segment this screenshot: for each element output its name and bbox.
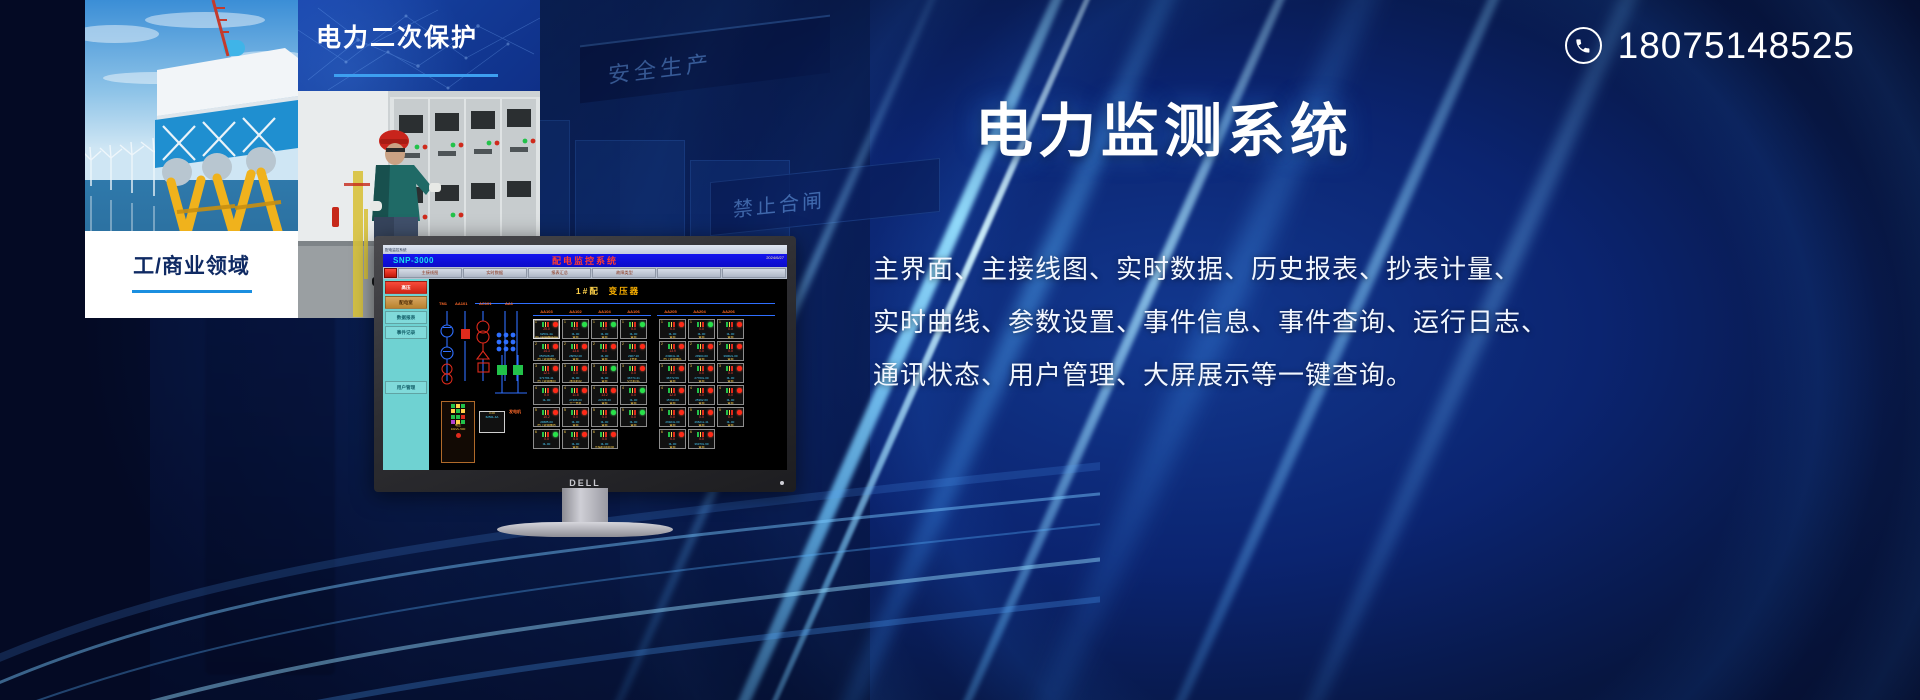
meter-primary-value: 0.0 xyxy=(594,350,615,353)
meter-primary-value: 14.3 xyxy=(536,350,557,353)
meter-index: 3 xyxy=(661,365,663,368)
meter-index: 4 xyxy=(719,387,721,390)
diagram-title-main: 变压器 xyxy=(609,286,641,296)
meter-primary-value: 0.0 xyxy=(594,416,615,419)
meter-status-led-icon xyxy=(611,388,616,393)
meter-cell[interactable]: 60.00L.00备用 xyxy=(562,429,589,449)
meter-index: 4 xyxy=(622,387,624,390)
phone-glyph xyxy=(1573,36,1593,56)
meter-status-led-icon xyxy=(640,344,645,349)
meter-label: 备用 xyxy=(690,336,713,339)
meter-status-led-icon xyxy=(640,388,645,393)
meter-cell[interactable]: 60.00L.00备用 xyxy=(659,429,686,449)
meter-index: 5 xyxy=(719,409,721,412)
meter-primary-value: 0.0 xyxy=(662,416,683,419)
meter-primary-value: 0.0 xyxy=(594,328,615,331)
meter-cell[interactable]: 412.015790.00备用 xyxy=(659,385,686,405)
app-menubar[interactable]: 主接线图 实时数据 报表汇总 故障类型 xyxy=(383,267,787,279)
meter-primary-value: 0.0 xyxy=(594,438,615,441)
card-header-underline xyxy=(334,74,498,77)
meter-secondary-value: 0L.00 xyxy=(535,399,558,402)
meter-label: 备用 xyxy=(719,336,742,339)
meter-label: 鼓风机02 xyxy=(564,380,587,383)
meter-index: 4 xyxy=(535,387,537,390)
meter-label: 备用 xyxy=(661,424,684,427)
meter-cell[interactable]: 312.1371784.41出口变频器03 xyxy=(533,363,560,383)
meter-label: 出口变频器03 xyxy=(535,380,558,383)
app-banner: SNP-3000 配电监控系统 2024/6/27 xyxy=(383,254,787,267)
meter-grid-columns: 120.06250L.4A出口变频器01/0A214.305P028.28出口变… xyxy=(533,319,785,449)
meter-label: 备用 xyxy=(719,424,742,427)
meter-cell[interactable]: 10.00L.00备用 xyxy=(717,319,744,339)
meter-index: 6 xyxy=(564,431,566,434)
meter-index: 1 xyxy=(535,321,537,324)
meter-secondary-value: 0L.00 xyxy=(535,443,558,446)
meter-cell[interactable]: 50.026924L.00备用 xyxy=(659,407,686,427)
meter-cell[interactable]: 213.923904L.41出口变频器01 xyxy=(659,341,686,361)
power-monitoring-banner: 安全生产 禁止合闸 xyxy=(0,0,1920,700)
meter-cell[interactable]: 120.06250L.4A出口变频器01/0A xyxy=(533,319,560,339)
meter-status-led-icon xyxy=(582,344,587,349)
feeder-group-1-headers: AA205 AA204 AA206 xyxy=(657,309,742,314)
meter-primary-value: 0.0 xyxy=(691,372,712,375)
meter-label: 备用 xyxy=(593,424,616,427)
meter-label: 备用 xyxy=(690,424,713,427)
contact-phone[interactable]: 18075148525 xyxy=(1565,27,1855,64)
meter-primary-value: 0.0 xyxy=(691,416,712,419)
meter-label: 备用 xyxy=(661,336,684,339)
meter-status-led-icon xyxy=(553,322,558,327)
meter-primary-value: 0.0 xyxy=(565,328,586,331)
app-sidebar[interactable]: 高压 配电室 数据报表 事件记录 用户管理 xyxy=(383,279,429,470)
meter-cell[interactable]: 30.00L.00备用 xyxy=(717,363,744,383)
meter-cell[interactable]: 10.00L.00备用 xyxy=(620,319,647,339)
meter-index: 1 xyxy=(690,321,692,324)
meter-status-led-icon xyxy=(708,432,713,437)
menu-item-5[interactable] xyxy=(722,268,786,278)
meter-primary-value: 0.0 xyxy=(536,438,557,441)
power-led-icon xyxy=(780,481,784,485)
meter-primary-value: 12.0 xyxy=(662,394,683,397)
sld-tag-3: AA1 xyxy=(505,301,513,306)
feeder-column: 10.00L.00备用213.626P62.00备用30.00L.00鼓风机02… xyxy=(562,319,589,449)
meter-index: 1 xyxy=(564,321,566,324)
meter-primary-value: 0.0 xyxy=(720,350,741,353)
meter-index: 1 xyxy=(661,321,663,324)
meter-label: 备用 xyxy=(564,358,587,361)
meter-cell[interactable]: 20.02907.204号机 xyxy=(620,341,647,361)
meter-index: 5 xyxy=(690,409,692,412)
meter-index: 3 xyxy=(535,365,537,368)
meter-label: 出口变频器05 xyxy=(535,424,558,427)
meter-index: 2 xyxy=(564,343,566,346)
meter-index: 2 xyxy=(661,343,663,346)
app-body: 高压 配电室 数据报表 事件记录 用户管理 1#配 变压器 xyxy=(383,279,787,470)
meter-index: 6 xyxy=(690,431,692,434)
menu-item-4[interactable] xyxy=(657,268,721,278)
sidebar-item-high-voltage[interactable]: 高压 xyxy=(385,281,427,294)
card-label-underline xyxy=(132,290,252,293)
feeder-group-gap xyxy=(651,319,655,449)
meter-label: 备用 xyxy=(690,358,713,361)
status-panel-label-1: 10kVL-500 xyxy=(442,428,474,432)
meter-cell[interactable]: 213.626P62.00备用 xyxy=(562,341,589,361)
feeder-header: AA106 xyxy=(620,309,647,314)
meter-grid[interactable]: 120.06250L.4A出口变频器01/0A214.305P028.28出口变… xyxy=(533,319,785,449)
meter-index: 4 xyxy=(593,387,595,390)
status-panel-voltage[interactable]: 电压 10kVL-500 xyxy=(441,401,475,463)
meter-index: 5 xyxy=(622,409,624,412)
clock-date: 2024/6/27 xyxy=(766,255,784,260)
meter-cell[interactable]: 10.00L.00备用 xyxy=(562,319,589,339)
monitor-stand-neck xyxy=(562,488,608,526)
meter-label: 备用 xyxy=(719,358,742,361)
meter-status-led-icon xyxy=(640,366,645,371)
meter-cell[interactable]: 30.036772.59备用 xyxy=(659,363,686,383)
feeder-column: 10.00L.00备用20.00L.00备用30.00L.00备用413.224… xyxy=(591,319,618,449)
meter-label: 备用 xyxy=(564,424,587,427)
meter-label: 备用 xyxy=(661,446,684,449)
meter-cell[interactable]: 50.00L.00备用 xyxy=(620,407,647,427)
meter-status-led-icon xyxy=(679,432,684,437)
meter-cell[interactable]: 20.029904.00备用 xyxy=(688,341,715,361)
meter-index: 5 xyxy=(535,409,537,412)
meter-cell[interactable]: 60.00L.00压缩机04/机组 xyxy=(591,429,618,449)
meter-primary-value: 0.0 xyxy=(565,372,586,375)
sidebar-item-event-log[interactable]: 事件记录 xyxy=(385,326,427,339)
meter-index: 2 xyxy=(622,343,624,346)
meter-cell[interactable]: 411.827206.60十一号机 xyxy=(562,385,589,405)
phone-number: 18075148525 xyxy=(1618,27,1855,64)
meter-status-led-icon xyxy=(708,410,713,415)
meter-primary-value: 0.0 xyxy=(691,394,712,397)
meter-status-led-icon xyxy=(737,322,742,327)
meter-primary-value: 0.0 xyxy=(565,438,586,441)
menu-item-3[interactable]: 故障类型 xyxy=(592,268,656,278)
meter-label: 备用 xyxy=(690,446,713,449)
meter-cell[interactable]: 50.00L.00备用 xyxy=(562,407,589,427)
meter-primary-value: 11.8 xyxy=(565,394,586,397)
card-header-secondary-protection: 电力二次保护 xyxy=(298,0,540,91)
meter-primary-value: 0.0 xyxy=(623,394,644,397)
meter-cell[interactable]: 30.027700L.00备用 xyxy=(688,363,715,383)
meter-status-led-icon xyxy=(582,432,587,437)
feeder-group-0-headers: AA103 AA102 AA104 AA106 xyxy=(533,309,647,314)
feeder-column: 10.00L.00备用213.923904L.41出口变频器0130.03677… xyxy=(659,319,686,449)
feeder-header: AA206 xyxy=(715,309,742,314)
meter-cell[interactable]: 20.039002L.00备用 xyxy=(717,341,744,361)
meter-primary-value: 0.0 xyxy=(662,328,683,331)
meter-status-led-icon xyxy=(611,322,616,327)
sidebar-spacer xyxy=(385,341,427,381)
meter-primary-value: 0.0 xyxy=(720,416,741,419)
meter-cell[interactable]: 30.036774.41空压机/1L xyxy=(620,363,647,383)
meter-primary-value: 20.0 xyxy=(536,328,557,331)
meter-status-led-icon xyxy=(737,388,742,393)
card-label-industrial-commercial: 工/商业领域 xyxy=(85,231,298,318)
meter-index: 2 xyxy=(593,343,595,346)
meter-primary-value: 0.0 xyxy=(536,394,557,397)
window-title: 配电监控系统 xyxy=(385,247,407,252)
meter-status-led-icon xyxy=(553,432,558,437)
meter-index: 6 xyxy=(535,431,537,434)
description-line-0: 主界面、主接线图、实时数据、历史报表、抄表计量、 xyxy=(873,243,1883,296)
description-line-2: 通讯状态、用户管理、大屏展示等一键查询。 xyxy=(873,349,1883,402)
main-bus-bar xyxy=(475,303,775,304)
meter-status-led-icon xyxy=(553,344,558,349)
meter-cell[interactable]: 40.00L.00备用 xyxy=(717,385,744,405)
meter-status-led-icon xyxy=(737,366,742,371)
app-window-titlebar: 配电监控系统 xyxy=(383,245,787,254)
description-line-1: 实时曲线、参数设置、事件信息、事件查询、运行日志、 xyxy=(873,296,1883,349)
meter-status-led-icon xyxy=(553,388,558,393)
meter-status-led-icon xyxy=(582,322,587,327)
meter-primary-value: 13.9 xyxy=(662,350,683,353)
feeder-header: AA102 xyxy=(562,309,589,314)
meter-status-led-icon xyxy=(582,388,587,393)
meter-cell[interactable]: 20.00L.00备用 xyxy=(591,341,618,361)
meter-label: 压缩机04/机组 xyxy=(593,446,616,449)
feeder-column: 10.00L.00备用20.039002L.00备用30.00L.00备用40.… xyxy=(717,319,744,449)
meter-cell[interactable]: 50.00L.00备用 xyxy=(717,407,744,427)
monitor-mockup: 配电监控系统 SNP-3000 配电监控系统 2024/6/27 主接线图 实时… xyxy=(374,236,796,536)
status-leds-row xyxy=(442,409,474,413)
meter-label: 备用 xyxy=(593,402,616,405)
meter-status-led-icon xyxy=(611,432,616,437)
meter-status-led-icon xyxy=(582,410,587,415)
meter-cell[interactable]: 214.305P028.28出口变频器02 xyxy=(533,341,560,361)
phone-in-circle-icon xyxy=(1565,27,1602,64)
meter-status-led-icon xyxy=(679,366,684,371)
meter-status-led-icon xyxy=(640,410,645,415)
meter-index: 4 xyxy=(661,387,663,390)
feeder-column: 10.00L.00备用20.02907.204号机30.036774.41空压机… xyxy=(620,319,647,449)
meter-primary-value: 0.0 xyxy=(720,394,741,397)
meter-primary-value: 0.0 xyxy=(594,372,615,375)
monitor-stand-base xyxy=(497,522,673,537)
feeder-column: 10.00L.00备用20.029904.00备用30.027700L.00备用… xyxy=(688,319,715,449)
meter-label: 备用 xyxy=(622,424,645,427)
page-title: 电力监测系统 xyxy=(975,103,1353,161)
meter-status-led-icon xyxy=(679,322,684,327)
meter-index: 2 xyxy=(719,343,721,346)
menu-item-0[interactable]: 主接线图 xyxy=(398,268,462,278)
feeder-header: AA104 xyxy=(591,309,618,314)
meter-label: 空压机/1L xyxy=(622,380,645,383)
meter-index: 6 xyxy=(593,431,595,434)
meter-primary-value: 0.0 xyxy=(623,350,644,353)
meter-index: 4 xyxy=(564,387,566,390)
meter-label: 备用 xyxy=(593,358,616,361)
feeder-header: AA204 xyxy=(686,309,713,314)
meter-cell[interactable]: 510.229685.00出口变频器05 xyxy=(533,407,560,427)
readout-value-1: 6250L.4A xyxy=(480,416,504,420)
meter-cell[interactable]: 10.00L.00备用 xyxy=(688,319,715,339)
meter-label: 备用 xyxy=(593,336,616,339)
status-panel-readout[interactable]: 0.00 6250L.4A xyxy=(479,411,505,433)
meter-status-led-icon xyxy=(640,322,645,327)
meter-cell[interactable]: 50.00L.00备用 xyxy=(591,407,618,427)
meter-status-led-icon xyxy=(679,344,684,349)
menu-item-2[interactable]: 报表汇总 xyxy=(528,268,592,278)
meter-index: 3 xyxy=(690,365,692,368)
meter-label: 备用 xyxy=(622,402,645,405)
meter-status-led-icon xyxy=(708,322,713,327)
diagram-title: 1#配 变压器 xyxy=(429,285,787,297)
meter-cell[interactable]: 60.00L.00 xyxy=(533,429,560,449)
meter-primary-value: 0.0 xyxy=(662,438,683,441)
status-leds-row xyxy=(442,433,474,438)
feeder-header: AA205 xyxy=(657,309,684,314)
sld-tag-1: AA101 xyxy=(455,301,467,306)
meter-cell[interactable]: 40.00L.00备用 xyxy=(620,385,647,405)
menu-item-1[interactable]: 实时数据 xyxy=(463,268,527,278)
sld-tag-0: TM1 xyxy=(439,301,447,306)
status-leds-row xyxy=(442,404,474,408)
meter-status-led-icon xyxy=(679,388,684,393)
meter-index: 5 xyxy=(564,409,566,412)
meter-index: 1 xyxy=(593,321,595,324)
generator-tag: 发电机 xyxy=(509,409,521,415)
meter-label: 出口变频器01/0A xyxy=(535,336,558,339)
meter-index: 5 xyxy=(593,409,595,412)
sidebar-item-user-management[interactable]: 用户管理 xyxy=(385,381,427,394)
sidebar-item-data-report[interactable]: 数据报表 xyxy=(385,311,427,324)
meter-status-led-icon xyxy=(737,410,742,415)
meter-cell[interactable]: 413.224728.40备用 xyxy=(591,385,618,405)
meter-primary-value: 0.0 xyxy=(691,438,712,441)
meter-label: 4号机 xyxy=(622,358,645,361)
meter-primary-value: 13.2 xyxy=(594,394,615,397)
meter-label: 备用 xyxy=(564,336,587,339)
meter-label: 备用 xyxy=(690,402,713,405)
bus-segment-right xyxy=(657,315,775,316)
meter-primary-value: 0.0 xyxy=(623,328,644,331)
meter-status-led-icon xyxy=(611,366,616,371)
meter-label: 备用 xyxy=(593,380,616,383)
meter-label: 出口变频器02 xyxy=(535,358,558,361)
card-industrial-commercial[interactable]: 工/商业领域 xyxy=(85,0,298,318)
status-leds-row xyxy=(442,415,474,419)
meter-primary-value: 0.0 xyxy=(662,372,683,375)
meter-label: 备用 xyxy=(690,380,713,383)
monitor-brand-logo: DELL xyxy=(374,478,796,488)
feeder-group-1: 10.00L.00备用213.923904L.41出口变频器0130.03677… xyxy=(659,319,744,449)
meter-primary-value: 0.0 xyxy=(623,416,644,419)
meter-index: 3 xyxy=(622,365,624,368)
meter-index: 2 xyxy=(690,343,692,346)
meter-status-led-icon xyxy=(708,344,713,349)
meter-primary-value: 0.0 xyxy=(565,416,586,419)
menu-alarm-button[interactable] xyxy=(384,268,397,278)
meter-status-led-icon xyxy=(611,344,616,349)
meter-index: 1 xyxy=(719,321,721,324)
meter-index: 5 xyxy=(661,409,663,412)
meter-primary-value: 0.0 xyxy=(691,350,712,353)
meter-status-led-icon xyxy=(611,410,616,415)
app-title: 配电监控系统 xyxy=(383,254,787,267)
monitor-bezel: 配电监控系统 SNP-3000 配电监控系统 2024/6/27 主接线图 实时… xyxy=(374,236,796,492)
meter-label: 出口变频器01 xyxy=(661,358,684,361)
meter-cell[interactable]: 10.00L.00备用 xyxy=(591,319,618,339)
meter-cell[interactable]: 50.046621L.41备用 xyxy=(688,407,715,427)
meter-cell[interactable]: 30.00L.00备用 xyxy=(591,363,618,383)
feature-description: 主界面、主接线图、实时数据、历史报表、抄表计量、 实时曲线、参数设置、事件信息、… xyxy=(873,243,1883,402)
card-label-text: 工/商业领域 xyxy=(133,256,250,277)
meter-label: 备用 xyxy=(661,402,684,405)
feeder-group-0: 120.06250L.4A出口变频器01/0A214.305P028.28出口变… xyxy=(533,319,647,449)
meter-cell[interactable]: 30.00L.00鼓风机02 xyxy=(562,363,589,383)
meter-cell[interactable]: 40.00L.00 xyxy=(533,385,560,405)
meter-status-led-icon xyxy=(708,388,713,393)
meter-status-led-icon xyxy=(679,410,684,415)
meter-index: 6 xyxy=(661,431,663,434)
meter-index: 3 xyxy=(719,365,721,368)
bus-segment-left xyxy=(533,315,651,316)
meter-status-led-icon xyxy=(582,366,587,371)
meter-cell[interactable]: 60.036370L.60备用 xyxy=(688,429,715,449)
meter-cell[interactable]: 40.025962.60备用 xyxy=(688,385,715,405)
meter-label: 备用 xyxy=(661,380,684,383)
meter-cell[interactable]: 10.00L.00备用 xyxy=(659,319,686,339)
diagram-canvas[interactable]: 1#配 变压器 xyxy=(429,279,787,470)
meter-index: 2 xyxy=(535,343,537,346)
meter-primary-value: 0.0 xyxy=(720,328,741,331)
meter-primary-value: 0.0 xyxy=(720,372,741,375)
meter-primary-value: 13.6 xyxy=(565,350,586,353)
meter-index: 4 xyxy=(690,387,692,390)
meter-status-led-icon xyxy=(553,410,558,415)
meter-primary-value: 0.0 xyxy=(691,328,712,331)
meter-label: 十一号机 xyxy=(564,402,587,405)
meter-status-led-icon xyxy=(553,366,558,371)
diagram-title-prefix: 1#配 xyxy=(576,286,600,296)
sld-tag-2: AC101 xyxy=(479,301,491,306)
meter-primary-value: 0.0 xyxy=(623,372,644,375)
meter-index: 1 xyxy=(622,321,624,324)
sidebar-item-distribution-room[interactable]: 配电室 xyxy=(385,296,427,309)
meter-primary-value: 10.2 xyxy=(536,416,557,419)
meter-label: 备用 xyxy=(622,336,645,339)
meter-index: 3 xyxy=(564,365,566,368)
meter-status-led-icon xyxy=(708,366,713,371)
card-header-text: 电力二次保护 xyxy=(298,0,540,54)
meter-status-led-icon xyxy=(737,344,742,349)
monitor-screen[interactable]: 配电监控系统 SNP-3000 配电监控系统 2024/6/27 主接线图 实时… xyxy=(383,245,787,470)
meter-primary-value: 12.1 xyxy=(536,372,557,375)
meter-label: 备用 xyxy=(719,380,742,383)
meter-index: 3 xyxy=(593,365,595,368)
feeder-header: AA103 xyxy=(533,309,560,314)
feeder-column: 120.06250L.4A出口变频器01/0A214.305P028.28出口变… xyxy=(533,319,560,449)
meter-label: 备用 xyxy=(719,402,742,405)
meter-label: 备用 xyxy=(564,446,587,449)
